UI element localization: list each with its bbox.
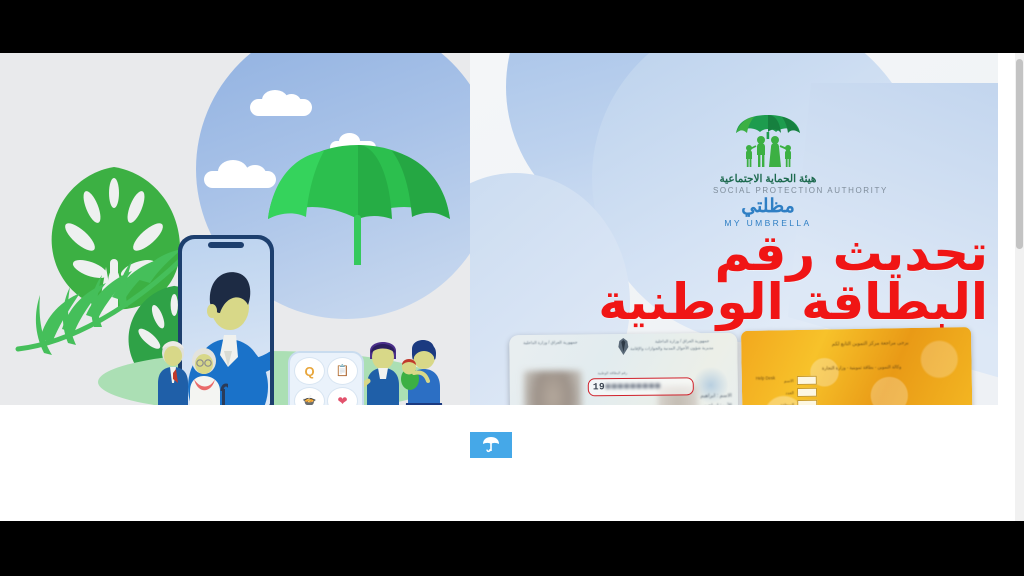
food-card-row-label: الاسم — [784, 378, 794, 383]
heart-pulse-icon[interactable]: ❤ — [327, 387, 358, 405]
food-card-value-box — [797, 376, 817, 385]
food-card-subtitle: وكالة التموين - بطاقة تموينية - وزارة ال… — [762, 363, 962, 372]
food-card-title: يرجى مراجعة مركز التموين التابع لكم — [785, 338, 955, 349]
letterbox-top — [0, 0, 1024, 53]
umbrella-badge[interactable] — [470, 432, 512, 458]
logo-brand-ar: مظلتي — [713, 197, 823, 216]
authority-logo: هيئة الحماية الاجتماعية SOCIAL PROTECTIO… — [713, 115, 823, 228]
food-card-row: المنطقة — [780, 400, 817, 405]
id-header-ar: جمهورية العراق / وزارة الداخلية — [655, 338, 709, 345]
letterbox-bottom — [0, 521, 1024, 576]
cloud-icon — [250, 99, 312, 116]
browser-page: Q 📋 🍲 ❤ 🏠 📊 — [0, 53, 1024, 521]
mother-with-baby — [400, 335, 446, 405]
id-fields: الاسم : ابراهيم الأب : ابراهيم الجد : اح… — [658, 393, 733, 405]
food-card-value-box — [797, 400, 817, 405]
id-field: الاسم : ابراهيم — [658, 393, 732, 400]
id-number-label: رقم البطاقة الوطنية — [598, 371, 628, 375]
poster-panel: هيئة الحماية الاجتماعية SOCIAL PROTECTIO… — [470, 53, 998, 405]
clipboard-check-icon[interactable]: 📋 — [327, 357, 358, 385]
elderly-woman-with-cane — [182, 345, 228, 405]
umbrella-icon — [482, 437, 500, 453]
video-frame: Q 📋 🍲 ❤ 🏠 📊 — [0, 0, 1024, 576]
iraq-eagle-emblem — [615, 337, 631, 356]
iraqi-national-id-card: جمهورية العراق / وزارة الداخلية مديرية ش… — [509, 333, 739, 405]
ration-food-card: يرجى مراجعة مركز التموين التابع لكم وكال… — [741, 327, 973, 405]
id-header-sub-ar: مديرية شؤون الأحوال المدنية والجوازات وا… — [630, 345, 713, 352]
hero-illustration: Q 📋 🍲 ❤ 🏠 📊 — [0, 53, 470, 405]
app-icon-panel[interactable]: Q 📋 🍲 ❤ 🏠 📊 — [288, 351, 364, 405]
green-umbrella-icon — [258, 145, 458, 265]
food-card-row-label: المنطقة — [780, 402, 794, 405]
id-number: 19■■■■■■■■■ — [593, 381, 661, 393]
umbrella-family-icon — [732, 115, 804, 171]
food-card-row-label: العدد — [785, 390, 794, 395]
food-card-value-box — [797, 388, 817, 397]
food-card-rows: الاسم العدد المنطقة — [780, 376, 818, 405]
food-card-row: الاسم — [780, 376, 817, 386]
scrollbar-thumb[interactable] — [1016, 59, 1023, 249]
logo-authority-ar: هيئة الحماية الاجتماعية — [713, 173, 823, 185]
id-field: الأب : ابراهيم — [658, 402, 732, 405]
coin-q-icon[interactable]: Q — [294, 357, 325, 385]
page-scrollbar[interactable] — [1015, 53, 1024, 521]
food-bowl-icon[interactable]: 🍲 — [294, 387, 325, 405]
page-title: تحديث رقم البطاقة الوطنية — [568, 229, 988, 327]
id-header-left-ar: جمهورية العراق / وزارة الداخلية — [523, 339, 577, 346]
headline-line-2: البطاقة الوطنية — [568, 278, 988, 327]
logo-authority-en: SOCIAL PROTECTION AUTHORITY — [713, 186, 823, 195]
food-card-row: العدد — [780, 388, 817, 398]
food-card-left-label: Help Desk — [756, 375, 775, 380]
id-photo-blurred — [524, 370, 583, 405]
headline-line-1: تحديث رقم — [568, 229, 988, 278]
